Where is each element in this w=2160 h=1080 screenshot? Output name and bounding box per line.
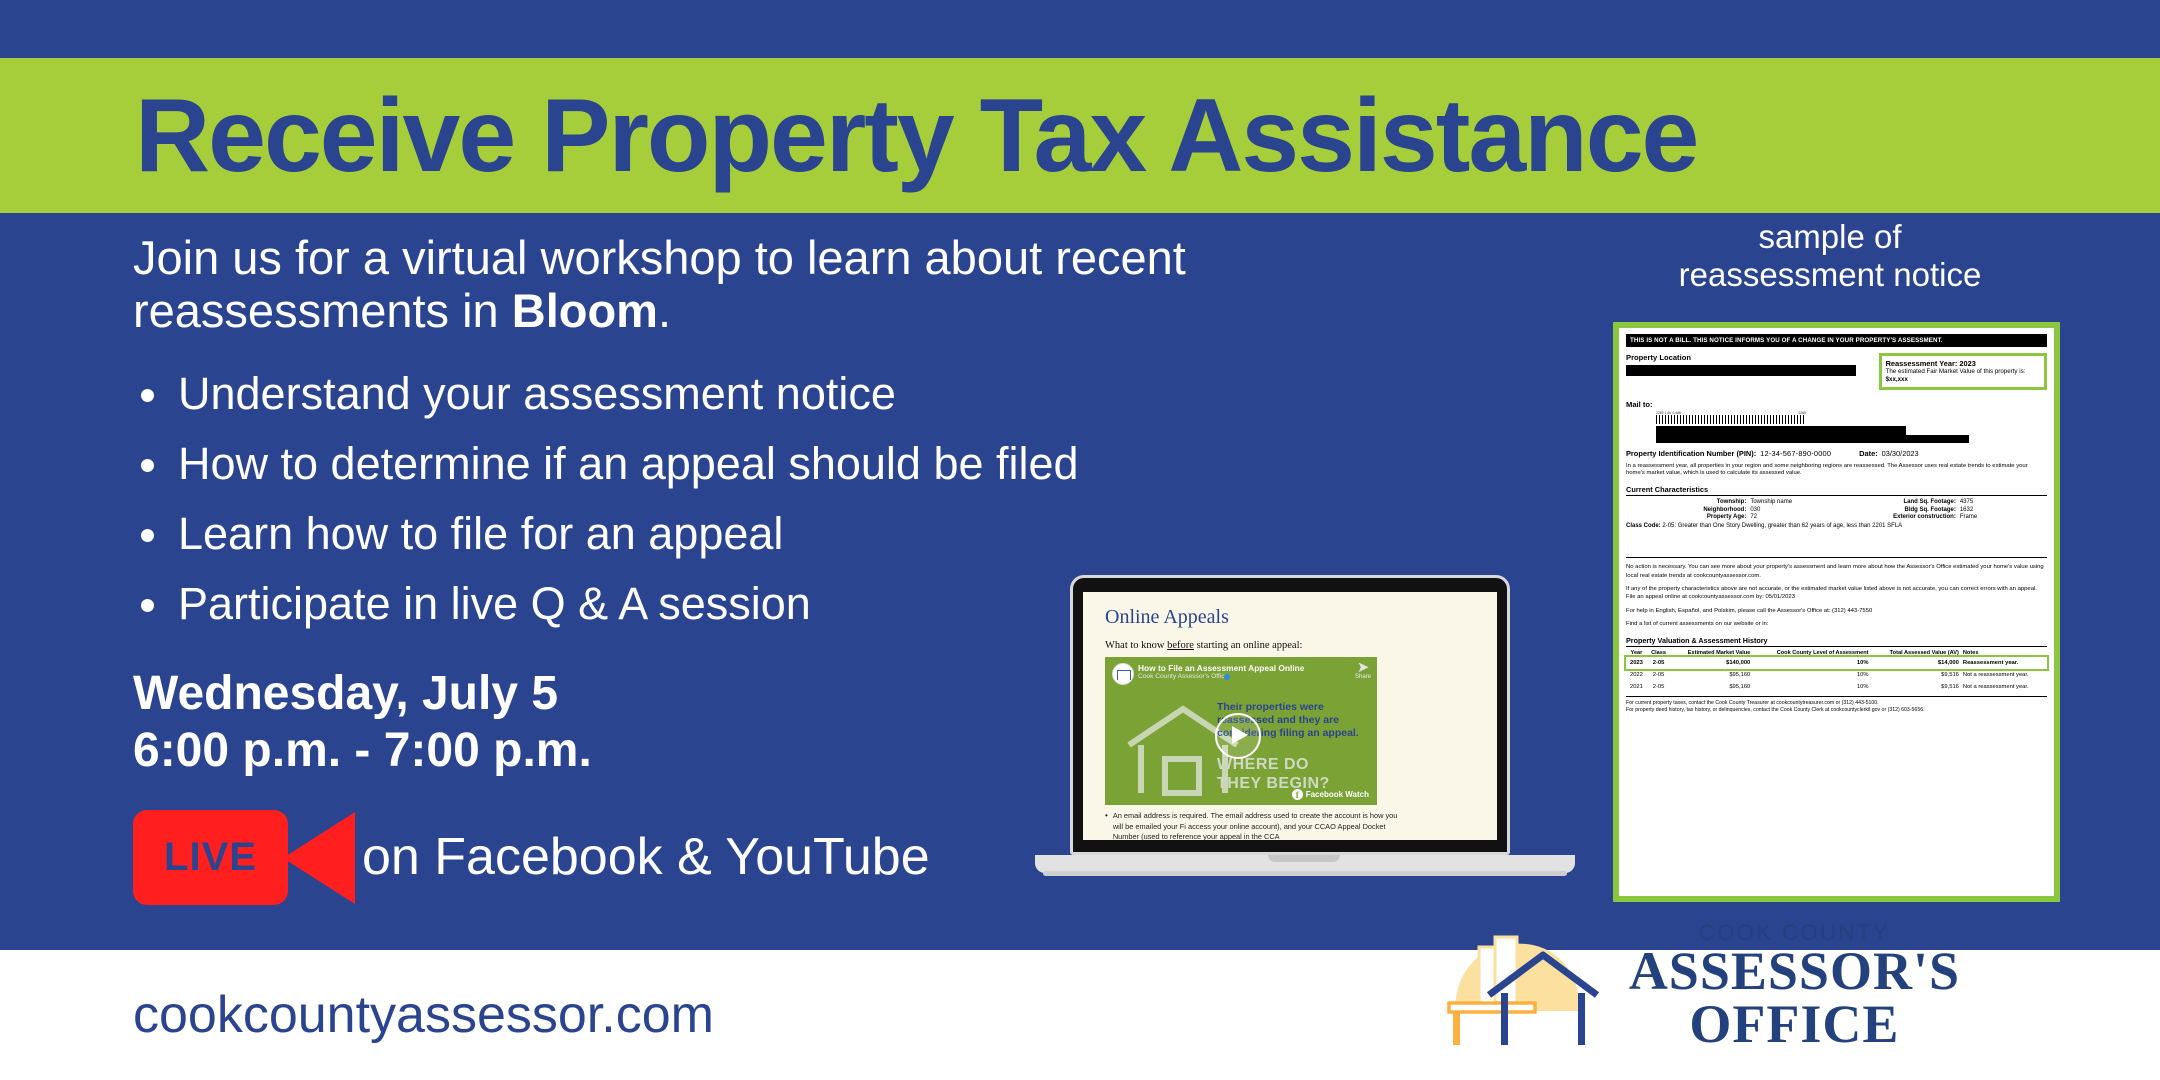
characteristic-row: Exterior construction:Frame <box>1845 514 2047 520</box>
characteristic-key: Land Sq. Footage: <box>1845 499 1960 505</box>
characteristic-row: Township:Township name <box>1626 499 1845 505</box>
screen-subtitle-emphasis: before <box>1167 640 1194 651</box>
redacted-address-bar-2 <box>1656 435 1969 443</box>
list-item-label: Learn how to file for an appeal <box>178 508 783 559</box>
facebook-watch-label: Facebook Watch <box>1306 790 1369 799</box>
share-button[interactable]: ➤ Share <box>1355 662 1371 680</box>
logo-office: OFFICE <box>1689 997 1899 1051</box>
cell-emv: $95,160 <box>1670 681 1752 693</box>
appeal-paragraph: If any of the property characteristics a… <box>1626 585 2047 602</box>
characteristic-key: Property Age: <box>1626 514 1750 520</box>
screen-bullet-text: An email address is required. The email … <box>1113 811 1405 840</box>
live-badge-label: LIVE <box>164 835 257 880</box>
redacted-address-bar <box>1626 365 1856 376</box>
characteristic-key: Bldg Sq. Footage: <box>1845 507 1960 513</box>
screen-subtitle-after: starting an online appeal: <box>1194 640 1302 651</box>
list-item-label: Understand your assessment notice <box>178 368 896 419</box>
pin-value: 12-34-567-890-0000 <box>1760 449 1831 458</box>
logo-wordmark: COOK COUNTY ASSESSOR'S OFFICE <box>1629 920 1960 1051</box>
table-header-row: Year Class Estimated Market Value Cook C… <box>1626 649 2047 657</box>
reassessment-year-value: 2023 <box>1959 359 1975 368</box>
broadcast-platforms-label: on Facebook & YouTube <box>362 827 930 887</box>
notice-date-value: 03/30/2023 <box>1882 449 1919 458</box>
sample-notice-caption-line2: reassessment notice <box>1620 256 2040 294</box>
laptop-screen: Online Appeals What to know before start… <box>1083 592 1497 840</box>
class-code-label: Class Code: <box>1626 523 1661 529</box>
notice-date-label: Date: <box>1859 449 1877 458</box>
table-row: 2022 2-05 $95,160 10% $9,516 Not a reass… <box>1626 669 2047 681</box>
characteristic-row: Neighborhood:030 <box>1626 507 1845 513</box>
language-help-paragraph: For help in English, Español, and Polski… <box>1626 607 2047 615</box>
reassessment-year-label: Reassessment Year: <box>1886 359 1958 368</box>
notice-footer-line1: For current property taxes, contact the … <box>1626 700 2047 707</box>
valuation-history-table: Year Class Estimated Market Value Cook C… <box>1626 649 2047 693</box>
fmv-label: The estimated Fair Market Value of this … <box>1886 368 2026 375</box>
logo-assessors: ASSESSOR'S <box>1629 946 1960 997</box>
laptop-shadow <box>1043 871 1567 876</box>
notice-header-row: Property Location Reassessment Year: 202… <box>1626 353 2047 390</box>
characteristic-value: Township name <box>1750 499 1845 505</box>
column-header-emv: Estimated Market Value <box>1670 649 1752 657</box>
column-header-av: Total Assessed Value (AV) <box>1871 649 1961 657</box>
list-item-label: Participate in live Q & A session <box>178 578 811 629</box>
website-url[interactable]: cookcountyassessor.com <box>133 985 714 1045</box>
notice-page: THIS IS NOT A BILL. THIS NOTICE INFORMS … <box>1619 328 2054 896</box>
footer-bar: cookcountyassessor.com COOK COUNTY <box>0 950 2160 1080</box>
intro-paragraph: Join us for a virtual workshop to learn … <box>133 232 1323 337</box>
channel-avatar-icon <box>1112 663 1134 685</box>
characteristic-value: 1632 <box>1960 507 2047 513</box>
list-item: How to determine if an appeal should be … <box>133 441 1333 486</box>
cell-notes: Not a reassessment year. <box>1961 669 2047 681</box>
notice-banner: THIS IS NOT A BILL. THIS NOTICE INFORMS … <box>1626 334 2047 347</box>
barcode-right-code: 2265 <box>1798 411 1806 415</box>
characteristic-key: Exterior construction: <box>1845 514 1960 520</box>
embedded-video-player[interactable]: How to File an Assessment Appeal Online … <box>1105 657 1377 805</box>
valuation-history-heading: Property Valuation & Assessment History <box>1626 636 2047 647</box>
characteristic-key: Township: <box>1626 499 1750 505</box>
reassessment-year-line: Reassessment Year: 2023 <box>1886 359 2040 368</box>
postal-barcode-icon <box>1656 415 1806 424</box>
characteristic-value: 72 <box>1750 514 1845 520</box>
cell-class: 2-05 <box>1647 657 1670 669</box>
class-code-row: Class Code: 2-05: Greater than One Story… <box>1626 523 2047 529</box>
notice-divider <box>1626 557 2047 558</box>
reassessment-year-box: Reassessment Year: 2023 The estimated Fa… <box>1879 353 2047 390</box>
reassessment-notice-image: THIS IS NOT A BILL. THIS NOTICE INFORMS … <box>1613 322 2060 902</box>
list-item: Learn how to file for an appeal <box>133 511 1333 556</box>
sample-notice-caption-line1: sample of <box>1620 218 2040 256</box>
bullet-dot-icon: • <box>1105 811 1108 840</box>
page-title: Receive Property Tax Assistance <box>135 84 1697 188</box>
characteristic-value: Frame <box>1960 514 2047 520</box>
class-code-value: 2-05: Greater than One Story Dwelling, g… <box>1662 523 1902 529</box>
characteristic-value: 4375 <box>1960 499 2047 505</box>
column-header-notes: Notes <box>1961 649 2047 657</box>
cell-av: $9,516 <box>1871 681 1961 693</box>
bullet-dot-icon <box>141 599 154 612</box>
bullet-dot-icon <box>141 529 154 542</box>
fmv-value: $xx,xxx <box>1886 376 1908 383</box>
screen-subtitle: What to know before starting an online a… <box>1105 640 1497 651</box>
cell-emv: $140,000 <box>1670 657 1752 669</box>
characteristics-grid: Township:Township name Neighborhood:030 … <box>1626 499 2047 522</box>
camera-lens-icon <box>283 812 355 904</box>
video-title: How to File an Assessment Appeal Online <box>1138 663 1304 673</box>
fair-market-value-text: The estimated Fair Market Value of this … <box>1886 368 2040 384</box>
redacted-name-bar <box>1656 426 1906 435</box>
property-location-block: Property Location <box>1626 353 1870 390</box>
bullet-dot-icon <box>141 459 154 472</box>
live-camera-icon: LIVE <box>133 810 358 905</box>
verified-badge-icon <box>1224 674 1230 680</box>
characteristic-key: Neighborhood: <box>1626 507 1750 513</box>
sample-notice-caption: sample of reassessment notice <box>1620 218 2040 294</box>
live-badge: LIVE <box>133 810 288 905</box>
characteristic-row: Land Sq. Footage:4375 <box>1845 499 2047 505</box>
laptop-lid: Online Appeals What to know before start… <box>1070 575 1510 855</box>
column-header-year: Year <box>1626 649 1647 657</box>
screen-subtitle-before: What to know <box>1105 640 1167 651</box>
poster-canvas: Receive Property Tax Assistance Join us … <box>0 0 2160 1080</box>
screen-page-title: Online Appeals <box>1105 606 1497 629</box>
play-button-icon[interactable] <box>1215 713 1261 759</box>
no-action-paragraph: No action is necessary. You can see more… <box>1626 563 2047 580</box>
cell-class: 2-05 <box>1647 669 1670 681</box>
cell-emv: $95,160 <box>1670 669 1752 681</box>
characteristic-row: Bldg Sq. Footage:1632 <box>1845 507 2047 513</box>
share-label: Share <box>1355 674 1371 680</box>
video-headline-line1: WHERE DO <box>1217 756 1309 774</box>
characteristics-col-right: Land Sq. Footage:4375 Bldg Sq. Footage:1… <box>1845 499 2047 522</box>
column-header-class: Class <box>1647 649 1670 657</box>
list-item: Understand your assessment notice <box>133 371 1333 416</box>
cell-year: 2022 <box>1626 669 1647 681</box>
column-header-loa: Cook County Level of Assessment <box>1752 649 1870 657</box>
house-glyph-icon <box>1117 670 1131 680</box>
township-name: Bloom <box>512 284 658 337</box>
notice-footer: For current property taxes, contact the … <box>1626 696 2047 715</box>
list-item-label: How to determine if an appeal should be … <box>178 438 1079 489</box>
reassessment-explainer: In a reassessment year, all properties i… <box>1626 463 2047 479</box>
logo-mark-icon <box>1441 923 1611 1048</box>
mailing-barcode-block: 2265 1 AV 0.468 2265 <box>1656 411 2047 443</box>
cell-notes: Reassessment year. <box>1961 657 2047 669</box>
cell-loa: 10% <box>1752 681 1870 693</box>
cell-loa: 10% <box>1752 669 1870 681</box>
screen-bullet-item: • An email address is required. The emai… <box>1105 811 1405 840</box>
facebook-icon: f <box>1292 789 1303 800</box>
cell-year: 2021 <box>1626 681 1647 693</box>
assessor-office-logo: COOK COUNTY ASSESSOR'S OFFICE <box>1441 920 1960 1051</box>
characteristics-col-left: Township:Township name Neighborhood:030 … <box>1626 499 1845 522</box>
laptop-trackpad-notch <box>1268 855 1340 862</box>
share-arrow-icon: ➤ <box>1355 662 1371 674</box>
mail-to-label: Mail to: <box>1626 400 2047 409</box>
notice-footer-line2: For property deed history, tax history, … <box>1626 707 2047 714</box>
cell-class: 2-05 <box>1647 681 1670 693</box>
table-row: 2023 2-05 $140,000 10% $14,000 Reassessm… <box>1626 657 2047 669</box>
cell-av: $14,000 <box>1871 657 1961 669</box>
intro-text-after: . <box>658 284 671 337</box>
table-row: 2021 2-05 $95,160 10% $9,516 Not a reass… <box>1626 681 2047 693</box>
barcode-left-code: 2265 1 AV 0.468 <box>1656 411 1681 415</box>
current-characteristics-heading: Current Characteristics <box>1626 485 2047 496</box>
pin-row: Property Identification Number (PIN): 12… <box>1626 449 2047 458</box>
house-and-skyline-icon <box>1441 923 1611 1048</box>
cell-av: $9,516 <box>1871 669 1961 681</box>
bullet-dot-icon <box>141 389 154 402</box>
assessment-list-paragraph: Find a list of current assessments on ou… <box>1626 620 2047 628</box>
property-location-label: Property Location <box>1626 353 1870 362</box>
cell-loa: 10% <box>1752 657 1870 669</box>
pin-label: Property Identification Number (PIN): <box>1626 449 1756 458</box>
laptop-mockup: Online Appeals What to know before start… <box>1035 575 1575 895</box>
characteristic-row: Property Age:72 <box>1626 514 1845 520</box>
facebook-watch-badge: f Facebook Watch <box>1292 789 1369 800</box>
video-channel: Cook County Assessor's Office <box>1138 673 1228 680</box>
cell-year: 2023 <box>1626 657 1647 669</box>
cell-notes: Not a reassessment year. <box>1961 681 2047 693</box>
characteristic-value: 030 <box>1750 507 1845 513</box>
headline-band: Receive Property Tax Assistance <box>0 58 2160 213</box>
